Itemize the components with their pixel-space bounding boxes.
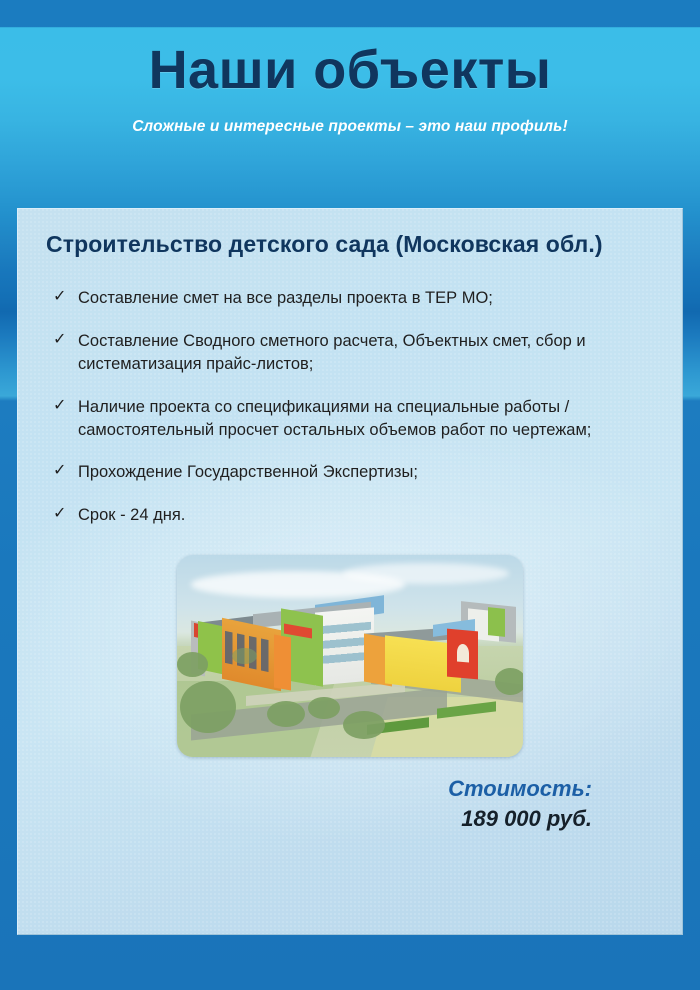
building-accent-green <box>488 607 505 637</box>
tree-shape <box>177 652 208 676</box>
price-label: Стоимость: <box>46 775 592 803</box>
poster-header: Наши объекты Сложные и интересные проект… <box>0 0 700 208</box>
project-card-body: Строительство детского сада (Московская … <box>18 209 682 833</box>
list-item: ✓ Срок - 24 дня. <box>46 504 654 527</box>
page-subtitle: Сложные и интересные проекты – это наш п… <box>0 118 700 136</box>
list-item-text: Прохождение Государственной Экспертизы; <box>78 463 418 481</box>
page-title: Наши объекты <box>0 42 700 99</box>
check-icon: ✓ <box>53 329 66 352</box>
project-card: Строительство детского сада (Московская … <box>17 208 683 935</box>
check-icon: ✓ <box>53 286 66 309</box>
check-icon: ✓ <box>53 503 66 526</box>
tree-shape <box>495 668 523 694</box>
project-title: Строительство детского сада (Московская … <box>46 229 646 259</box>
cloud-shape <box>343 563 509 583</box>
list-item-text: Наличие проекта со спецификациями на спе… <box>78 398 591 439</box>
list-item: ✓ Составление смет на все разделы проект… <box>46 287 654 310</box>
tree-shape <box>180 681 235 734</box>
tree-shape <box>343 711 385 739</box>
kindergarten-render-art <box>177 555 523 757</box>
check-icon: ✓ <box>53 460 66 483</box>
tree-shape <box>232 648 256 664</box>
project-image <box>177 555 523 757</box>
building-entry-arch <box>457 644 469 663</box>
price-value: 189 000 руб. <box>46 805 592 834</box>
list-item-text: Составление Сводного сметного расчета, О… <box>78 332 586 373</box>
tree-shape <box>308 697 339 719</box>
tree-shape <box>267 701 305 727</box>
list-item-text: Срок - 24 дня. <box>78 506 185 524</box>
list-item: ✓ Составление Сводного сметного расчета,… <box>46 330 654 377</box>
project-feature-list: ✓ Составление смет на все разделы проект… <box>46 287 654 527</box>
list-item: ✓ Наличие проекта со спецификациями на с… <box>46 396 654 443</box>
building-wall-orange <box>274 635 291 691</box>
building-windows <box>319 622 371 671</box>
price-block: Стоимость: 189 000 руб. <box>46 775 654 833</box>
poster-page: Наши объекты Сложные и интересные проект… <box>0 0 700 990</box>
list-item: ✓ Прохождение Государственной Экспертизы… <box>46 461 654 484</box>
check-icon: ✓ <box>53 395 66 418</box>
list-item-text: Составление смет на все разделы проекта … <box>78 289 493 307</box>
